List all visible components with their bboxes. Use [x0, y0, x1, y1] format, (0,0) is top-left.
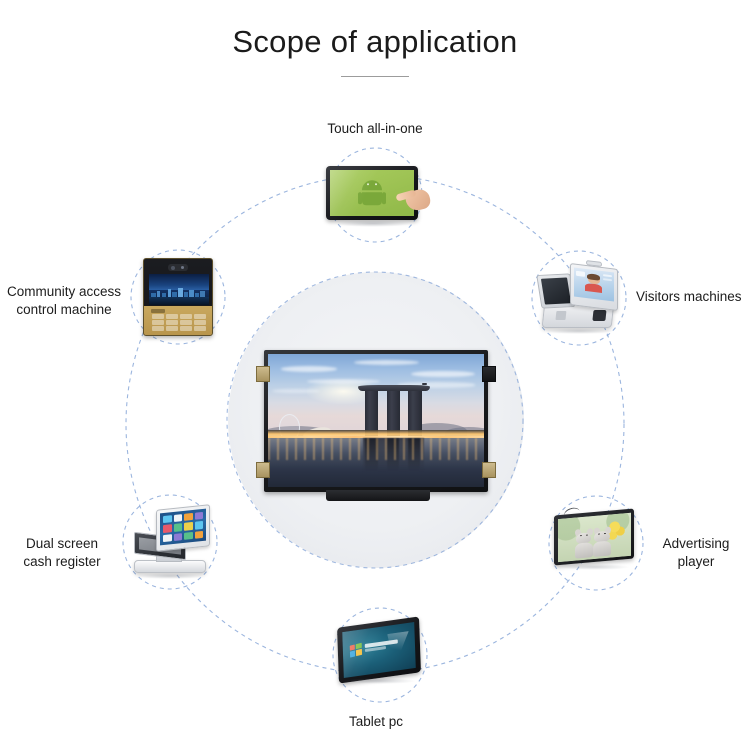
keypad-key[interactable]: [166, 320, 178, 325]
device-access-control-machine[interactable]: [143, 258, 215, 338]
label-advertising-player: Advertising player: [644, 535, 748, 571]
screen-panel: [603, 274, 613, 277]
keypad-key[interactable]: [180, 320, 192, 325]
device-touch-all-in-one[interactable]: [326, 166, 424, 224]
keypad-key[interactable]: [194, 314, 206, 319]
device-shadow: [545, 328, 613, 334]
mounting-tab: [482, 462, 496, 478]
visitor-screen: [574, 268, 614, 302]
lcd-display-panel: [256, 350, 496, 502]
camera-icon: [168, 264, 188, 271]
diagram-canvas: Scope of application: [0, 0, 750, 750]
device-shadow: [560, 564, 630, 570]
ui-tile: [163, 534, 172, 542]
access-screen: [149, 274, 209, 305]
ui-tile: [174, 514, 183, 522]
ui-tile: [184, 532, 193, 540]
device-shadow: [136, 573, 204, 579]
brand-mark: [151, 309, 165, 313]
device-visitors-machine[interactable]: [537, 260, 623, 336]
device-cash-register[interactable]: [128, 505, 214, 577]
access-panel-body: [143, 258, 213, 336]
device-tablet-pc[interactable]: [338, 622, 426, 684]
label-cash-register: Dual screen cash register: [4, 535, 120, 571]
ui-tile: [195, 521, 204, 529]
ui-tile: [163, 525, 172, 533]
kitten: [593, 530, 611, 556]
skypark-deck: [358, 385, 429, 391]
lcd-bezel: [264, 350, 488, 492]
kitten-body: [593, 541, 611, 557]
cloud: [281, 366, 337, 372]
kitten: [575, 532, 593, 558]
mounting-tab: [256, 366, 270, 382]
camera-icon: [586, 260, 602, 267]
pos-main-screen: [156, 504, 210, 552]
ui-tile: [195, 512, 204, 520]
keypad-key[interactable]: [166, 326, 178, 331]
cloud: [411, 371, 476, 378]
cloud: [354, 360, 419, 365]
kiosk-front-screen: [570, 263, 618, 311]
keypad-key[interactable]: [194, 320, 206, 325]
ui-tile: [174, 533, 183, 541]
ui-tile: [184, 513, 193, 521]
kitten-eye: [586, 535, 588, 536]
pos-screen-ui: [160, 509, 206, 546]
ui-tile: [195, 531, 204, 539]
screen-glare: [342, 622, 416, 678]
device-shadow: [334, 220, 412, 227]
device-advertising-player[interactable]: [554, 508, 640, 568]
lcd-screen-image: [268, 354, 484, 487]
touching-hand: [396, 182, 430, 212]
keypad-key[interactable]: [152, 314, 164, 319]
tile-grid: [163, 512, 203, 542]
display-bezel: [554, 509, 634, 566]
keypad-key[interactable]: [180, 314, 192, 319]
lcd-connector-strip: [326, 490, 430, 501]
tablet-bezel: [337, 616, 421, 683]
ui-tile: [163, 515, 172, 523]
label-touch-all-in-one: Touch all-in-one: [255, 120, 495, 138]
keypad-key[interactable]: [152, 320, 164, 325]
kitten-eye: [598, 534, 600, 535]
screen-water: [149, 297, 209, 305]
label-access-control-machine: Community access control machine: [0, 283, 132, 319]
device-shadow: [344, 678, 416, 684]
advertising-screen: [558, 512, 631, 561]
ui-tile: [184, 522, 193, 530]
ui-tile: [174, 523, 183, 531]
visitor-portrait: [588, 274, 600, 292]
screen-panel: [603, 278, 613, 281]
kitten-eye: [604, 533, 606, 534]
kitten-body: [575, 542, 593, 558]
label-tablet-pc: Tablet pc: [296, 713, 456, 731]
keypad-key[interactable]: [194, 326, 206, 331]
keypad[interactable]: [152, 314, 206, 331]
screen-panel: [576, 271, 586, 277]
keypad-key[interactable]: [180, 326, 192, 331]
light-reflections: [268, 438, 484, 459]
keypad-key[interactable]: [152, 326, 164, 331]
mounting-tab: [482, 366, 496, 382]
windows-screen: [342, 622, 416, 678]
kitten-eye: [580, 535, 582, 536]
mounting-tab: [256, 462, 270, 478]
keypad-key[interactable]: [166, 314, 178, 319]
label-visitors-machines: Visitors machines: [636, 288, 750, 306]
portrait-body: [585, 283, 601, 293]
